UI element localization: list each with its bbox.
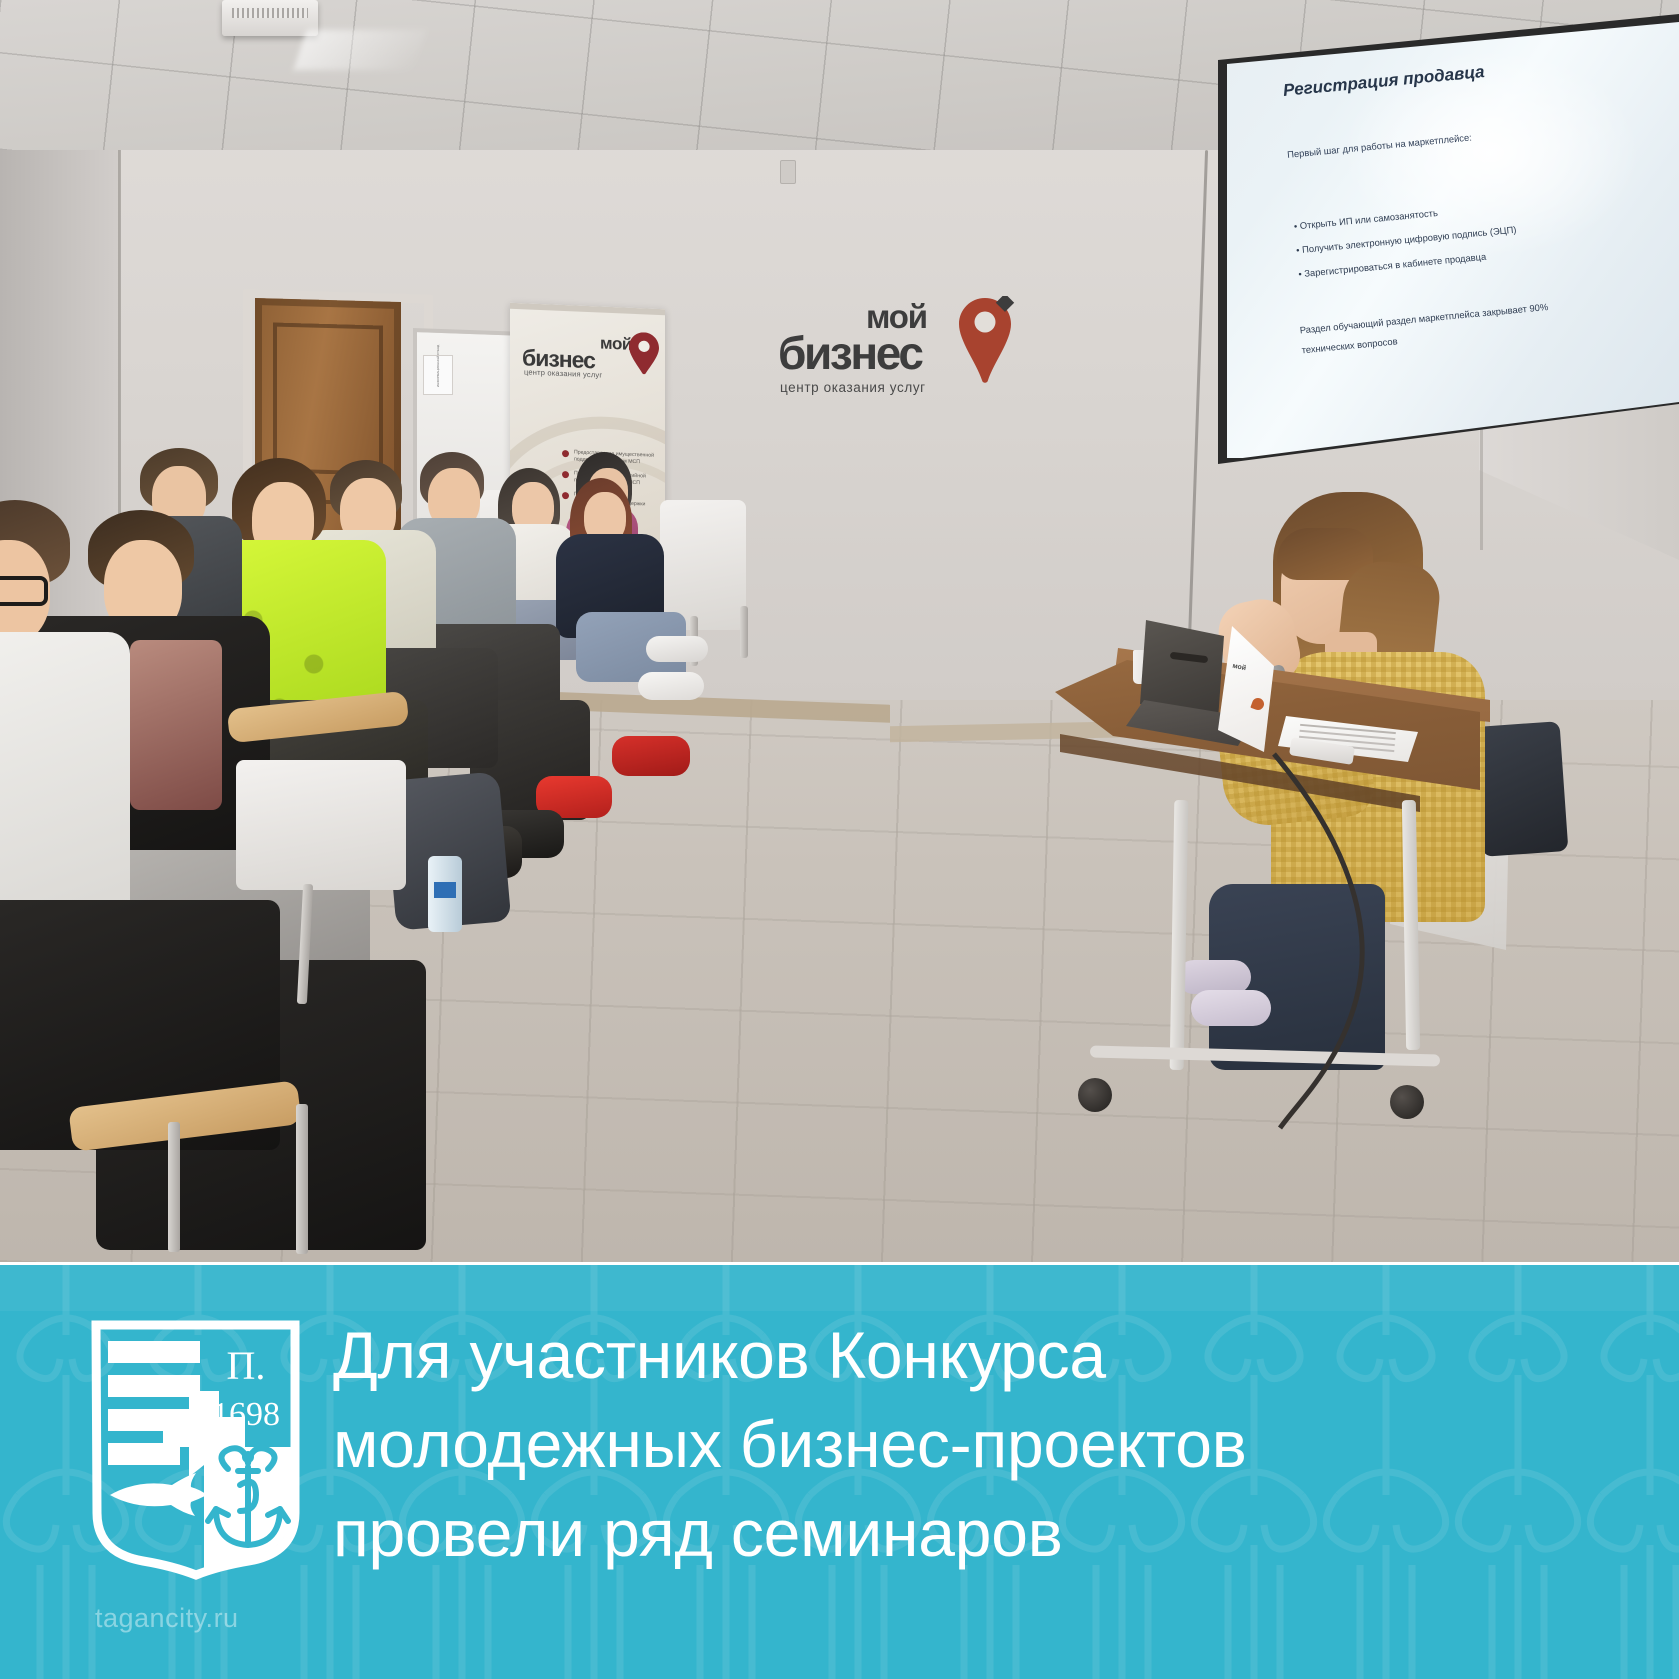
wall-logo-tagline: центр оказания услуг [780,380,926,395]
presenter-shoe-front [1191,990,1271,1026]
emblem-monogram: П. [227,1343,266,1388]
audience-chair [660,500,746,630]
projector-beam [294,30,427,70]
shoe [638,672,704,700]
whiteboard-note-label: ИНФОРМАЦИОННЫЙ СТЕНД [433,361,443,389]
chair-leg [740,606,748,658]
map-pin-icon [955,296,1015,388]
whiteboard-note: ИНФОРМАЦИОННЫЙ СТЕНД [424,356,452,394]
presenter-shoe-back [1177,960,1251,994]
wall-logo-my-business: мой бизнес центр оказания услуг [770,296,1030,416]
torso [0,632,130,932]
ceiling-projector [222,0,318,36]
chair-leg [168,1122,180,1252]
news-card: ИНФОРМАЦИОННЫЙ СТЕНД мой бизнес центр ок… [0,0,1679,1679]
projection-screen: Регистрация продавца Первый шаг для рабо… [1221,18,1679,458]
headline-banner: П. 1698 tagancity.ru Для участников Конк… [0,1265,1679,1679]
eyeglasses [0,576,48,606]
shirt-print [130,640,222,810]
headline-line-1: Для участников Конкурса [333,1311,1623,1400]
headline-line-2: молодежных бизнес-проектов [333,1400,1623,1489]
presenter-bag [1474,721,1569,857]
site-watermark: tagancity.ru [95,1603,239,1634]
headline-line-3: провели ряд семинаров [333,1489,1623,1578]
shoe [612,736,690,776]
shoe [646,636,708,662]
slide-bullet-3: • Зарегистрироваться в кабинете продавца [1298,251,1487,280]
audience-chair [236,760,406,890]
slide-subtitle: Первый шаг для работы на маркетплейсе: [1287,131,1473,159]
map-pin-icon [1250,696,1265,711]
coat-of-arms-taganrog: П. 1698 [88,1317,303,1585]
slide-bullet-1: • Открыть ИП или самозанятость [1293,207,1438,232]
emblem-year: 1698 [212,1396,280,1433]
page-title: Для участников Конкурса молодежных бизне… [333,1311,1623,1578]
power-cord [1260,750,1420,1130]
chair-leg [296,1104,308,1254]
desk-caster-left [1078,1078,1112,1112]
presentation-slide: Регистрация продавца Первый шаг для рабо… [1227,18,1679,446]
slide-title: Регистрация продавца [1282,62,1485,101]
event-photo: ИНФОРМАЦИОННЫЙ СТЕНД мой бизнес центр ок… [0,0,1679,1262]
water-bottle [428,856,462,932]
slide-footer-line-1: Раздел обучающий раздел маркетплейса зак… [1299,301,1548,335]
wall-logo-line2: бизнес [778,326,922,380]
wall-outlet [780,160,796,184]
map-pin-icon [629,332,659,375]
tent-card-logo-line1: мой [1232,663,1267,678]
slide-footer-line-2: технических вопросов [1301,335,1398,355]
